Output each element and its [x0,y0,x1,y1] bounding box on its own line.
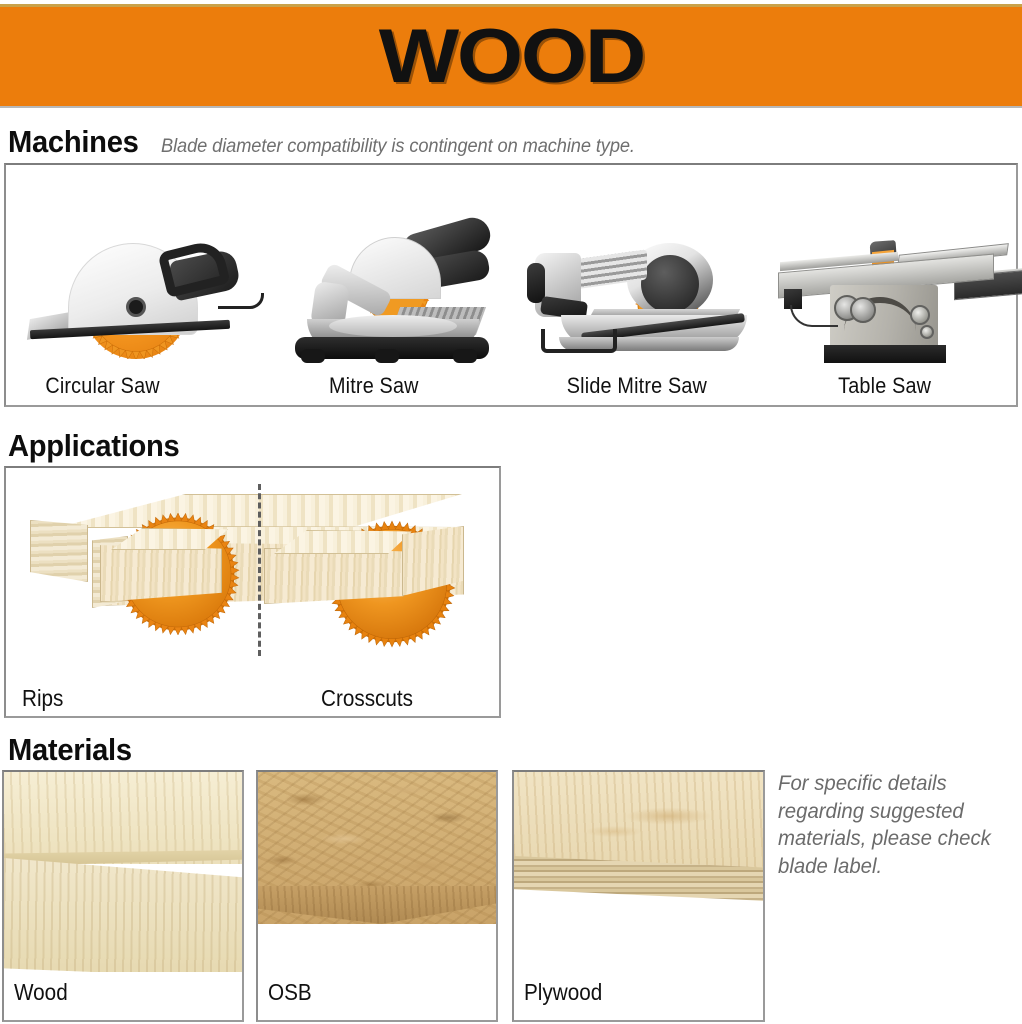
machine-label-slide-mitre-saw: Slide Mitre Saw [567,373,707,399]
page-title: WOOD [378,19,643,95]
machine-item-mitre-saw[interactable]: Mitre Saw [259,165,512,405]
machines-panel: Circular Saw [4,163,1018,407]
machines-section-heading: Machines Blade diameter compatibility is… [8,124,655,160]
material-label-wood: Wood [14,979,68,1006]
applications-section-heading: Applications [8,428,190,464]
materials-note: For specific details regarding suggested… [778,770,1009,881]
machine-label-circular-saw: Circular Saw [45,373,159,399]
material-label-plywood: Plywood [524,979,602,1006]
application-label-crosscuts: Crosscuts [321,685,413,712]
machine-item-table-saw[interactable]: Table Saw [764,165,1017,405]
material-item-plywood[interactable]: Plywood [512,770,765,1022]
applications-panel: Rips Crosscuts [4,466,501,718]
machines-title: Machines [8,124,139,160]
circular-saw-icon [6,197,259,373]
machine-label-table-saw: Table Saw [838,373,931,399]
machine-item-circular-saw[interactable]: Circular Saw [6,165,259,405]
solid-wood-icon [4,772,242,972]
materials-section-heading: Materials [8,732,140,768]
wood-blade-spec-sheet: WOOD Machines Blade diameter compatibili… [0,0,1022,1024]
application-label-rips: Rips [22,685,63,712]
machines-note: Blade diameter compatibility is continge… [161,136,635,158]
applications-labels: Rips Crosscuts [6,685,499,712]
table-saw-icon [764,197,1017,373]
applications-title: Applications [8,428,179,464]
slide-mitre-saw-icon [511,197,764,373]
header-band: WOOD [0,4,1022,108]
material-label-osb: OSB [268,979,312,1006]
applications-divider [258,484,261,656]
machine-label-mitre-saw: Mitre Saw [329,373,419,399]
applications-illustration [6,468,499,668]
materials-title: Materials [8,732,132,768]
machines-row: Circular Saw [6,165,1016,405]
osb-board-icon [258,772,496,924]
plywood-board-icon [514,772,763,912]
machine-item-slide-mitre-saw[interactable]: Slide Mitre Saw [511,165,764,405]
material-item-osb[interactable]: OSB [256,770,498,1022]
material-item-wood[interactable]: Wood [2,770,244,1022]
mitre-saw-icon [259,197,512,373]
